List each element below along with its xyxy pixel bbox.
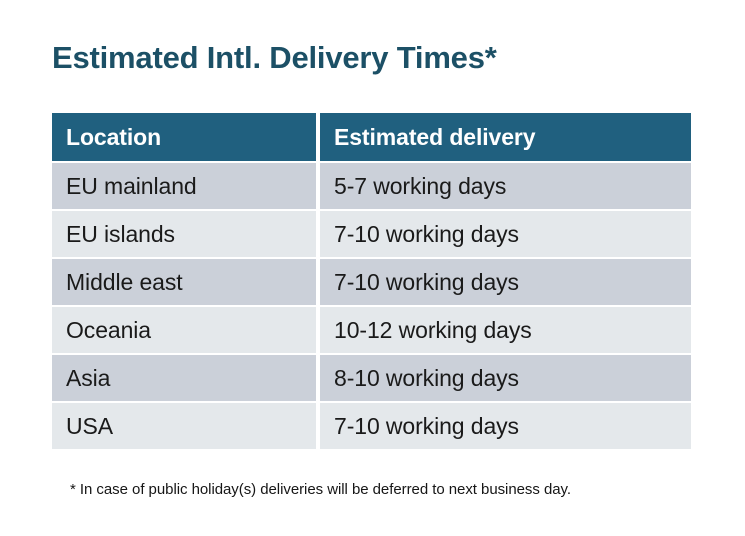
table-cell-location: Oceania	[52, 307, 316, 353]
table-cell-estimated-delivery: 7-10 working days	[320, 211, 691, 257]
table-header-row: Location Estimated delivery	[52, 113, 691, 161]
cell-location-value: USA	[66, 413, 113, 440]
table-row: EU mainland 5-7 working days	[52, 163, 691, 209]
cell-estimated-delivery-value: 5-7 working days	[334, 173, 506, 200]
table-cell-estimated-delivery: 8-10 working days	[320, 355, 691, 401]
cell-estimated-delivery-value: 7-10 working days	[334, 269, 519, 296]
table-cell-estimated-delivery: 7-10 working days	[320, 259, 691, 305]
table-cell-location: Asia	[52, 355, 316, 401]
table-row: Middle east 7-10 working days	[52, 259, 691, 305]
cell-location-value: EU mainland	[66, 173, 197, 200]
cell-estimated-delivery-value: 10-12 working days	[334, 317, 532, 344]
cell-location-value: Middle east	[66, 269, 183, 296]
delivery-times-table: Location Estimated delivery EU mainland …	[52, 113, 691, 449]
table-cell-estimated-delivery: 10-12 working days	[320, 307, 691, 353]
delivery-times-card: Estimated Intl. Delivery Times* Location…	[0, 0, 745, 536]
footnote-text: * In case of public holiday(s) deliverie…	[70, 480, 571, 500]
table-row: Oceania 10-12 working days	[52, 307, 691, 353]
table-header-cell-location: Location	[52, 113, 316, 161]
table-cell-location: Middle east	[52, 259, 316, 305]
cell-estimated-delivery-value: 8-10 working days	[334, 365, 519, 392]
table-cell-location: USA	[52, 403, 316, 449]
cell-location-value: Oceania	[66, 317, 151, 344]
table-cell-location: EU islands	[52, 211, 316, 257]
table-cell-location: EU mainland	[52, 163, 316, 209]
page-title: Estimated Intl. Delivery Times*	[52, 37, 497, 79]
cell-location-value: Asia	[66, 365, 110, 392]
column-header-location-label: Location	[66, 124, 161, 150]
table-cell-estimated-delivery: 5-7 working days	[320, 163, 691, 209]
table-row: USA 7-10 working days	[52, 403, 691, 449]
cell-location-value: EU islands	[66, 221, 175, 248]
table-row: Asia 8-10 working days	[52, 355, 691, 401]
table-cell-estimated-delivery: 7-10 working days	[320, 403, 691, 449]
column-header-estimated-delivery-label: Estimated delivery	[334, 124, 535, 150]
cell-estimated-delivery-value: 7-10 working days	[334, 413, 519, 440]
cell-estimated-delivery-value: 7-10 working days	[334, 221, 519, 248]
table-header-cell-estimated-delivery: Estimated delivery	[320, 113, 691, 161]
table-row: EU islands 7-10 working days	[52, 211, 691, 257]
